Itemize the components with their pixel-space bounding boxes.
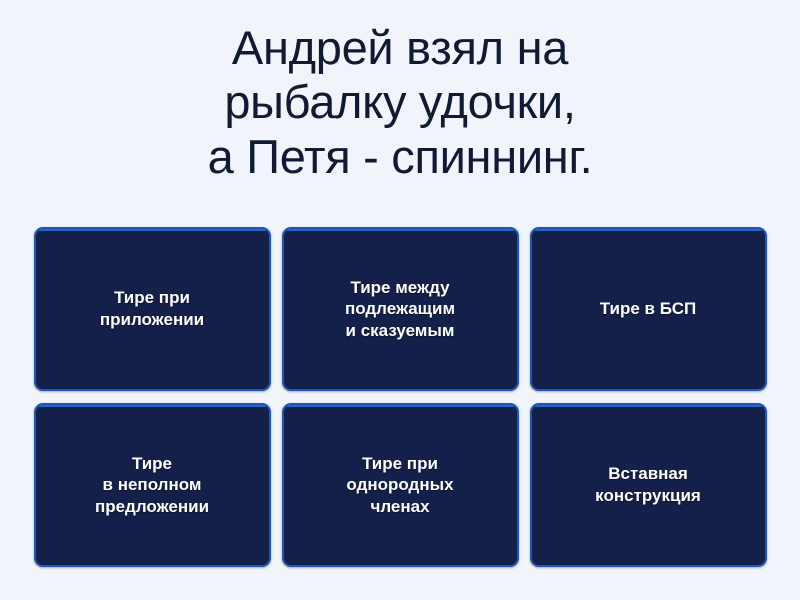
answer-option-5[interactable]: Тире при однородных членах <box>282 403 519 567</box>
answer-option-6[interactable]: Вставная конструкция <box>530 403 767 567</box>
answer-option-3[interactable]: Тире в БСП <box>530 227 767 391</box>
answer-option-2-label: Тире между подлежащим и сказуемым <box>345 277 455 342</box>
answer-option-6-label: Вставная конструкция <box>595 463 701 506</box>
answer-option-5-label: Тире при однородных членах <box>346 453 453 518</box>
answer-option-3-label: Тире в БСП <box>600 298 696 320</box>
question-area: Андрей взял на рыбалку удочки, а Петя - … <box>0 0 800 205</box>
answer-option-2[interactable]: Тире между подлежащим и сказуемым <box>282 227 519 391</box>
answer-options-grid: Тире при приложении Тире между подлежащи… <box>0 205 800 600</box>
answer-option-1[interactable]: Тире при приложении <box>34 227 271 391</box>
question-text: Андрей взял на рыбалку удочки, а Петя - … <box>208 21 593 185</box>
answer-option-1-label: Тире при приложении <box>100 287 204 330</box>
answer-option-4[interactable]: Тире в неполном предложении <box>34 403 271 567</box>
answer-option-4-label: Тире в неполном предложении <box>95 453 209 518</box>
quiz-screen: Андрей взял на рыбалку удочки, а Петя - … <box>0 0 800 600</box>
